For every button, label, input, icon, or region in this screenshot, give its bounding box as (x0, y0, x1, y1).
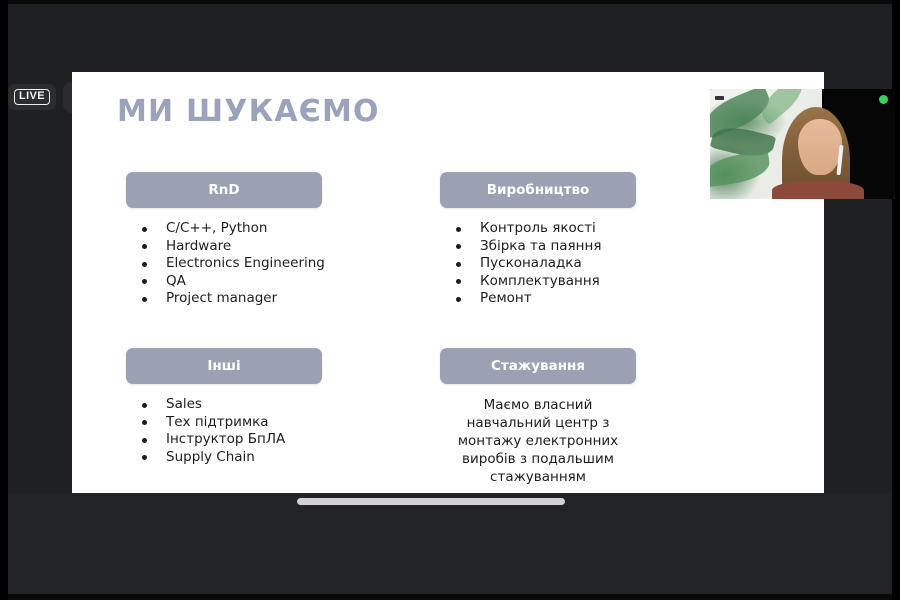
list-item: Контроль якості (452, 220, 636, 238)
list-item: Project manager (138, 290, 322, 308)
leaf-shape (710, 151, 772, 188)
horizontal-scrollbar[interactable] (72, 497, 824, 507)
frame-edge-top (0, 0, 900, 4)
section-other: Інші Sales Тех підтримка Інструктор БпЛА… (126, 348, 322, 466)
section-heading-other: Інші (126, 348, 322, 384)
bullet-list-production: Контроль якості Збірка та паяння Пускона… (440, 220, 636, 308)
section-heading-production: Виробництво (440, 172, 636, 208)
list-item: C/C++, Python (138, 220, 322, 238)
webcam-tile[interactable] (710, 89, 895, 199)
list-item: Supply Chain (138, 449, 322, 467)
list-item: Інструктор БпЛА (138, 431, 322, 449)
participant-torso (772, 181, 864, 199)
live-badge: LIVE (8, 84, 56, 110)
participant-face (798, 119, 842, 175)
list-item: Збірка та паяння (452, 238, 636, 256)
frame-edge-bottom (0, 594, 900, 600)
list-item: Тех підтримка (138, 414, 322, 432)
screen-share-view: LIVE МИ ШУКАЄМО RnD C/C++, Python Hardwa… (0, 0, 900, 600)
list-item: QA (138, 273, 322, 291)
webcam-name-tag (715, 96, 724, 100)
bullet-list-other: Sales Тех підтримка Інструктор БпЛА Supp… (126, 396, 322, 466)
list-item: Комплектування (452, 273, 636, 291)
section-heading-internship: Стажування (440, 348, 636, 384)
section-heading-rnd: RnD (126, 172, 322, 208)
bullet-list-rnd: C/C++, Python Hardware Electronics Engin… (126, 220, 322, 308)
section-rnd: RnD C/C++, Python Hardware Electronics E… (126, 172, 322, 308)
frame-edge-left (0, 0, 8, 600)
scrollbar-thumb[interactable] (297, 498, 565, 505)
list-item: Пусконаладка (452, 255, 636, 273)
section-internship: Стажування Маємо власний навчальний цент… (440, 348, 636, 486)
internship-paragraph: Маємо власний навчальний центр з монтажу… (440, 396, 636, 486)
active-status-dot (879, 95, 888, 104)
list-item: Ремонт (452, 290, 636, 308)
slide-title: МИ ШУКАЄМО (117, 94, 380, 129)
list-item: Electronics Engineering (138, 255, 322, 273)
meeting-backdrop-lower (0, 493, 900, 600)
list-item: Sales (138, 396, 322, 414)
live-badge-label: LIVE (14, 89, 50, 105)
list-item: Hardware (138, 238, 322, 256)
section-production: Виробництво Контроль якості Збірка та па… (440, 172, 636, 308)
